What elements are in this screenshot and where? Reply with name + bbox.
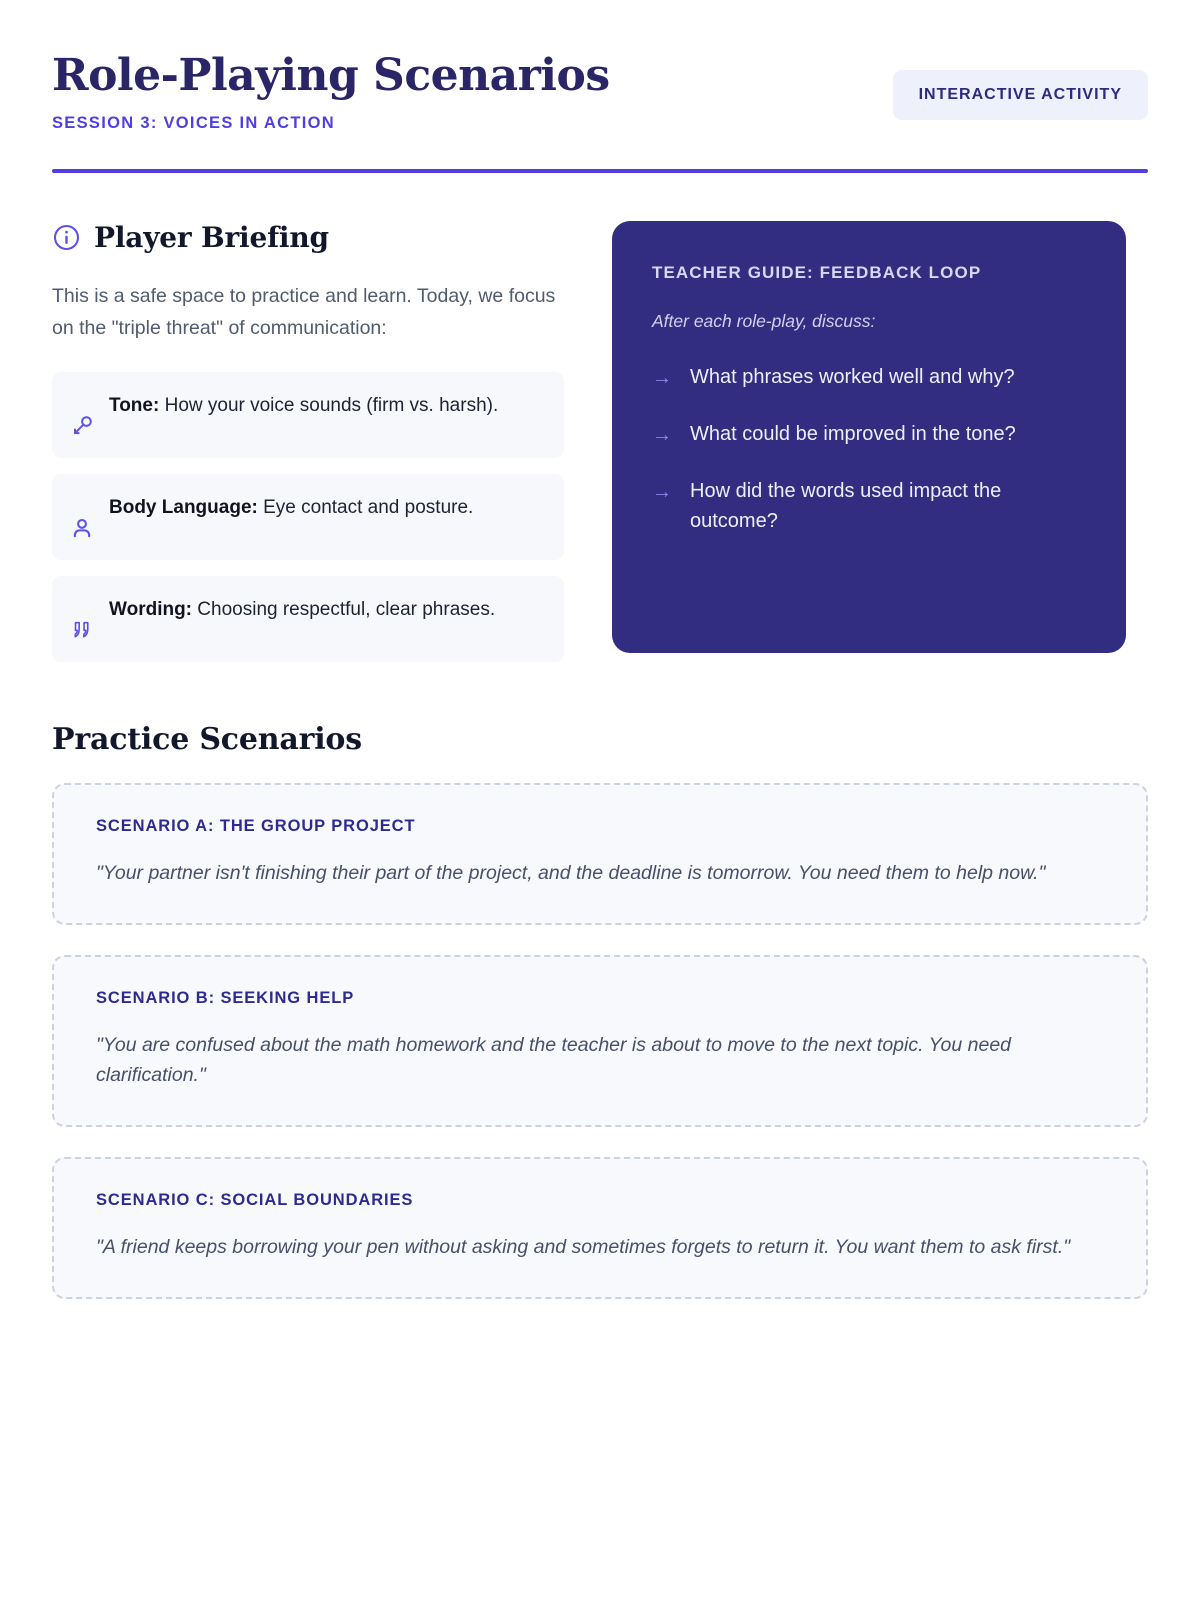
teacher-guide-question: → What could be improved in the tone? [652, 419, 1088, 450]
teacher-guide-panel: TEACHER GUIDE: FEEDBACK LOOP After each … [612, 221, 1126, 653]
scenario-card-c[interactable]: SCENARIO C: SOCIAL BOUNDARIES "A friend … [52, 1157, 1148, 1299]
teacher-guide-question-text: What phrases worked well and why? [690, 362, 1015, 392]
interactive-activity-badge[interactable]: INTERACTIVE ACTIVITY [893, 70, 1148, 120]
pillar-text-tone: Tone: How your voice sounds (firm vs. ha… [109, 391, 498, 422]
pillar-text-wording: Wording: Choosing respectful, clear phra… [109, 595, 495, 626]
page-subtitle: SESSION 3: VOICES IN ACTION [52, 114, 610, 133]
pillar-desc-wording: Choosing respectful, clear phrases. [192, 599, 495, 620]
pillar-desc-tone: How your voice sounds (firm vs. harsh). [159, 395, 498, 416]
arrow-right-icon: → [652, 420, 672, 450]
scenario-label-a: SCENARIO A: THE GROUP PROJECT [96, 817, 1108, 836]
teacher-guide-question-list: → What phrases worked well and why? → Wh… [652, 362, 1088, 537]
pillar-term-tone: Tone: [109, 395, 159, 416]
player-briefing-title: Player Briefing [94, 221, 329, 254]
pillar-card-tone[interactable]: Tone: How your voice sounds (firm vs. ha… [52, 372, 564, 458]
info-circle-icon [52, 223, 81, 252]
player-briefing-intro: This is a safe space to practice and lea… [52, 280, 564, 344]
pillar-term-wording: Wording: [109, 599, 192, 620]
header-title-block: Role-Playing Scenarios SESSION 3: VOICES… [52, 48, 610, 133]
scenario-quote-c: "A friend keeps borrowing your pen witho… [96, 1232, 1108, 1263]
teacher-guide-column: TEACHER GUIDE: FEEDBACK LOOP After each … [612, 221, 1126, 653]
teacher-guide-question-text: What could be improved in the tone? [690, 419, 1016, 449]
main-columns: Player Briefing This is a safe space to … [52, 221, 1148, 678]
teacher-guide-question: → How did the words used impact the outc… [652, 476, 1088, 537]
person-icon [69, 515, 95, 541]
arrow-right-icon: → [652, 363, 672, 393]
teacher-guide-intro: After each role-play, discuss: [652, 311, 1088, 332]
player-briefing-column: Player Briefing This is a safe space to … [52, 221, 564, 678]
pillar-list: Tone: How your voice sounds (firm vs. ha… [52, 372, 564, 662]
scenario-label-b: SCENARIO B: SEEKING HELP [96, 989, 1108, 1008]
pillar-desc-body-language: Eye contact and posture. [258, 497, 473, 518]
scenario-quote-b: "You are confused about the math homewor… [96, 1030, 1108, 1092]
header-divider [52, 169, 1148, 173]
scenario-card-a[interactable]: SCENARIO A: THE GROUP PROJECT "Your part… [52, 783, 1148, 925]
page-header: Role-Playing Scenarios SESSION 3: VOICES… [52, 48, 1148, 133]
page-title: Role-Playing Scenarios [52, 52, 610, 100]
practice-scenarios-title: Practice Scenarios [52, 722, 1148, 757]
teacher-guide-title: TEACHER GUIDE: FEEDBACK LOOP [652, 263, 1088, 283]
quote-marks-icon [69, 617, 95, 643]
activity-page: Role-Playing Scenarios SESSION 3: VOICES… [0, 0, 1200, 1600]
scenario-label-c: SCENARIO C: SOCIAL BOUNDARIES [96, 1191, 1108, 1210]
teacher-guide-question-text: How did the words used impact the outcom… [690, 476, 1088, 537]
scenario-quote-a: "Your partner isn't finishing their part… [96, 858, 1108, 889]
scenario-list: SCENARIO A: THE GROUP PROJECT "Your part… [52, 783, 1148, 1299]
pillar-card-body-language[interactable]: Body Language: Eye contact and posture. [52, 474, 564, 560]
pillar-text-body-language: Body Language: Eye contact and posture. [109, 493, 473, 524]
arrow-right-icon: → [652, 477, 672, 507]
microphone-icon [69, 413, 95, 439]
scenario-card-b[interactable]: SCENARIO B: SEEKING HELP "You are confus… [52, 955, 1148, 1128]
pillar-card-wording[interactable]: Wording: Choosing respectful, clear phra… [52, 576, 564, 662]
teacher-guide-question: → What phrases worked well and why? [652, 362, 1088, 393]
pillar-term-body-language: Body Language: [109, 497, 258, 518]
player-briefing-header: Player Briefing [52, 221, 564, 254]
